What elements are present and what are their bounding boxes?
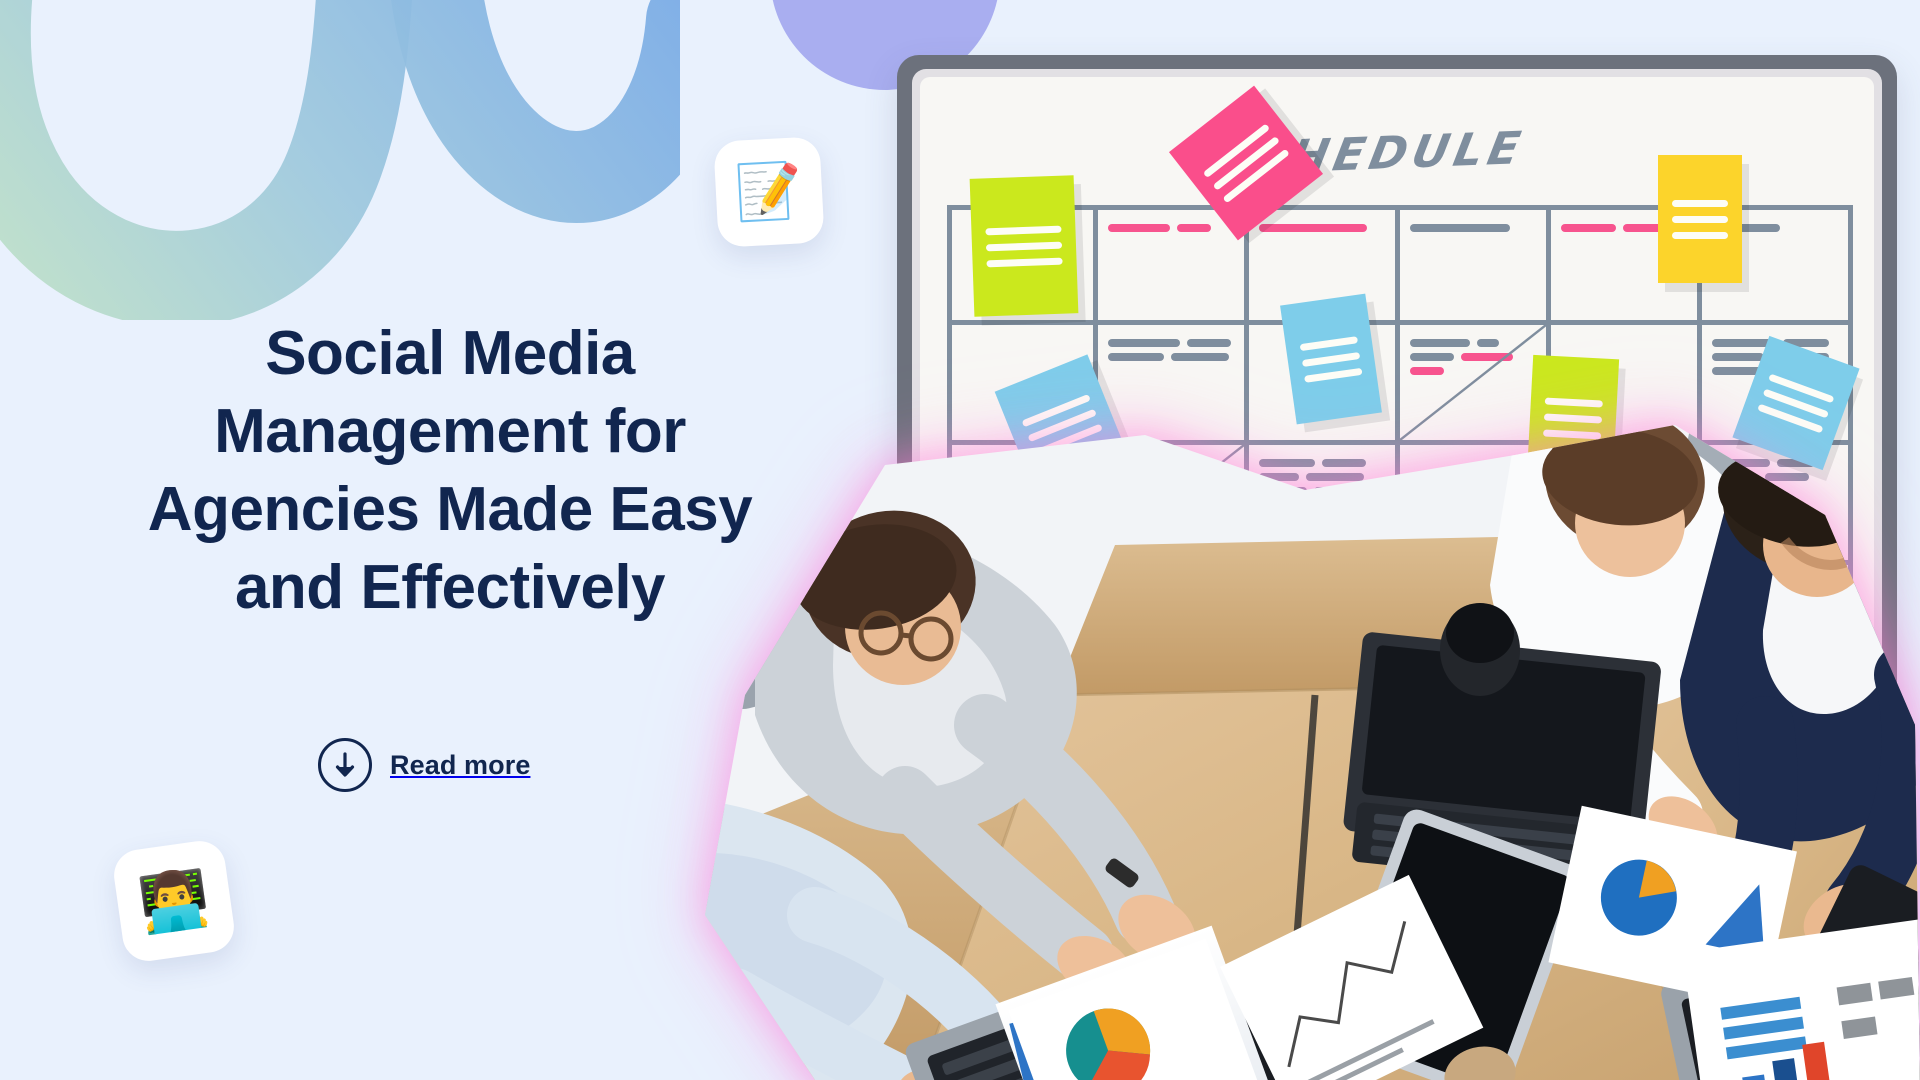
note-line <box>985 225 1061 235</box>
note-line <box>1300 336 1358 351</box>
arrow-down-circle-icon <box>318 738 372 792</box>
read-more-label: Read more <box>390 750 530 781</box>
memo-icon: 📝 <box>734 163 804 220</box>
note-line <box>1672 216 1728 223</box>
note-line <box>986 257 1062 267</box>
sticky-note-yellow-1 <box>1658 155 1742 283</box>
note-line <box>1672 200 1728 207</box>
team-meeting-photo <box>585 395 1920 1080</box>
technologist-emoji-card: 👨‍💻 <box>111 838 237 964</box>
note-line <box>1672 232 1728 239</box>
memo-emoji-card: 📝 <box>713 136 824 247</box>
headline-line-1: Social Media <box>70 315 830 393</box>
note-line <box>1304 367 1362 382</box>
note-line <box>986 241 1062 251</box>
technologist-icon: 👨‍💻 <box>136 868 213 933</box>
sticky-note-lime-1 <box>970 175 1079 317</box>
hero-visual: SCHEDULE ! <box>880 0 1920 1080</box>
read-more-button[interactable]: Read more <box>318 738 530 792</box>
note-line <box>1302 351 1360 366</box>
hero-banner: Social Media Management for Agencies Mad… <box>0 0 1920 1080</box>
sticky-note-pink-1 <box>1169 86 1323 241</box>
